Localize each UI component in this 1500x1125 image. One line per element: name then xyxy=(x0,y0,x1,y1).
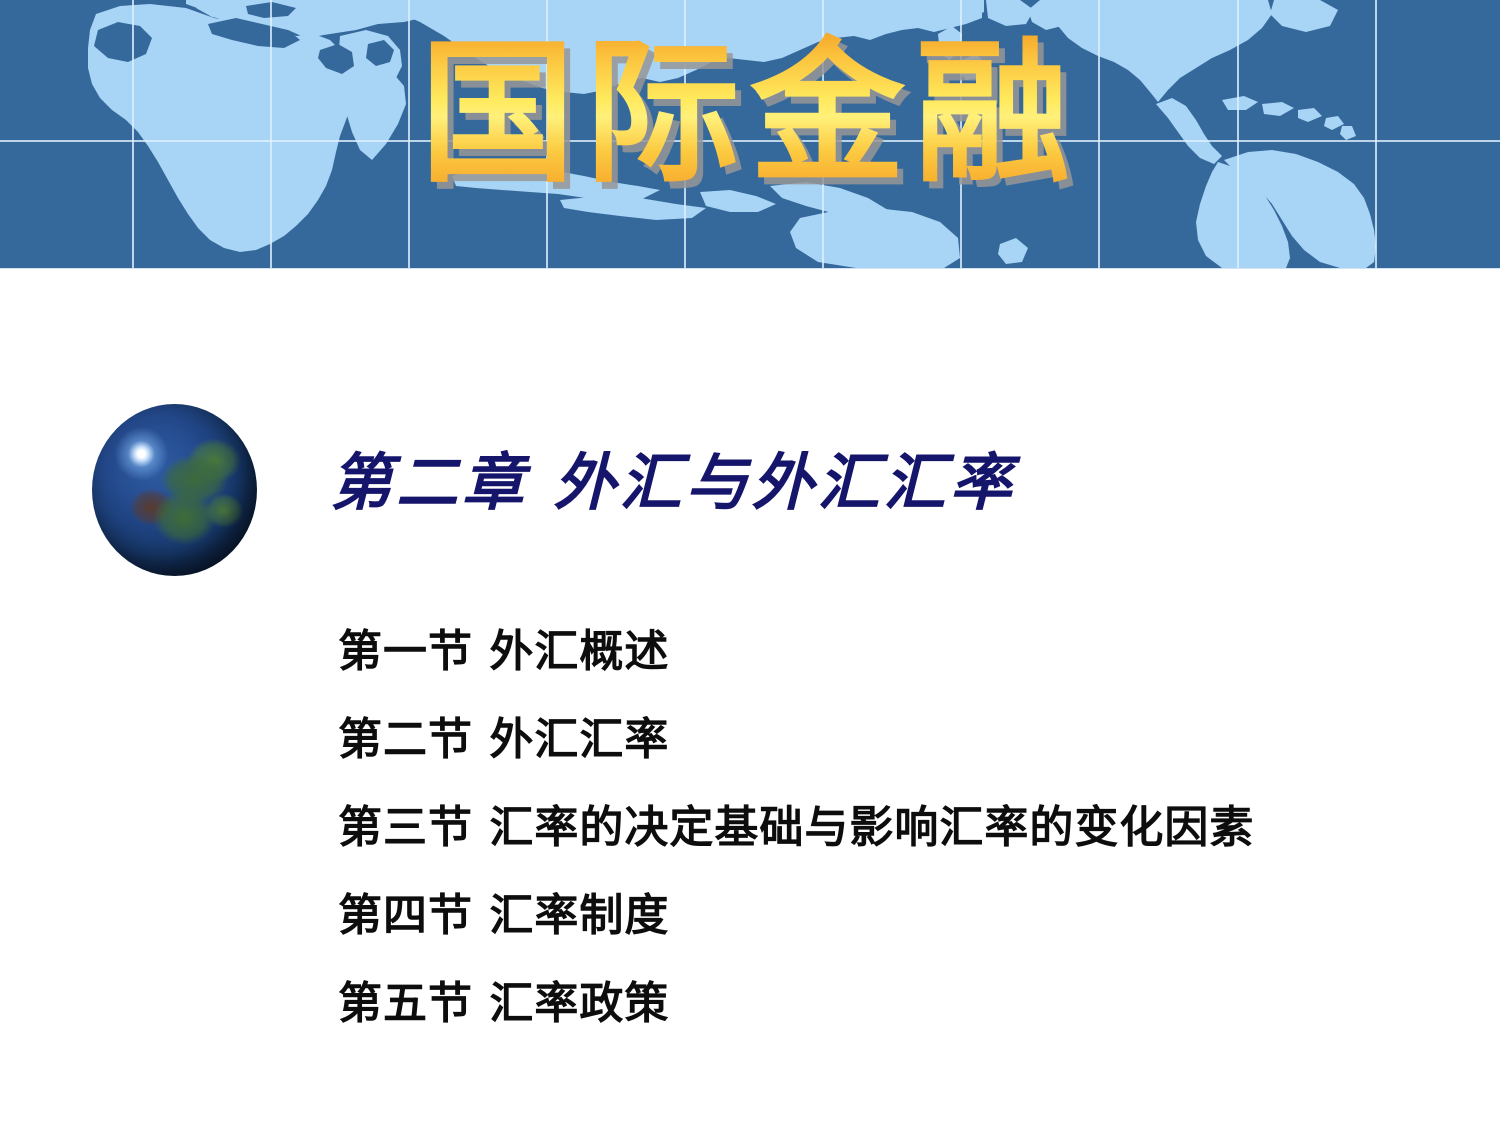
globe-icon xyxy=(92,404,257,576)
section-list: 第一节 外汇概述 第二节 外汇汇率 第三节 汇率的决定基础与影响汇率的变化因素 … xyxy=(338,618,1298,1038)
list-item: 第一节 外汇概述 xyxy=(338,618,1298,686)
list-item: 第五节 汇率政策 xyxy=(338,970,1298,1038)
list-item: 第二节 外汇汇率 xyxy=(338,706,1298,774)
list-item: 第四节 汇率制度 xyxy=(338,882,1298,950)
title-banner: 国际金融 xyxy=(0,0,1500,268)
list-item: 第三节 汇率的决定基础与影响汇率的变化因素 xyxy=(338,794,1268,862)
world-map-graphic xyxy=(0,0,1500,268)
page-title: 第二章 外汇与外汇汇率 xyxy=(330,452,1016,514)
